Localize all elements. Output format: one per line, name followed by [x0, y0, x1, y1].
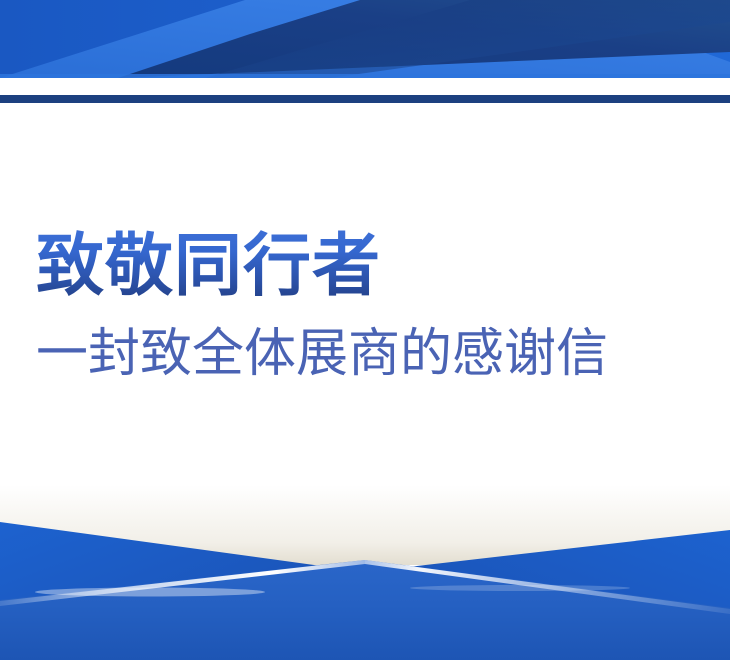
bottom-banner-graphic	[0, 500, 730, 660]
left-ridge-glow	[35, 588, 265, 597]
top-diagonal-banner	[0, 0, 730, 78]
page-title: 致敬同行者	[36, 229, 381, 303]
text-content-block: 致敬同行者 一封致全体展商的感谢信	[0, 103, 730, 523]
slide-canvas: 致敬同行者 一封致全体展商的感谢信	[0, 0, 730, 660]
right-ridge-glow	[410, 585, 630, 591]
page-subtitle: 一封致全体展商的感谢信	[36, 325, 608, 383]
navy-horizontal-rule	[0, 95, 730, 103]
bottom-chevron-banner	[0, 500, 730, 660]
top-banner-graphic	[0, 0, 730, 78]
banner-bottom-edge	[0, 74, 730, 78]
